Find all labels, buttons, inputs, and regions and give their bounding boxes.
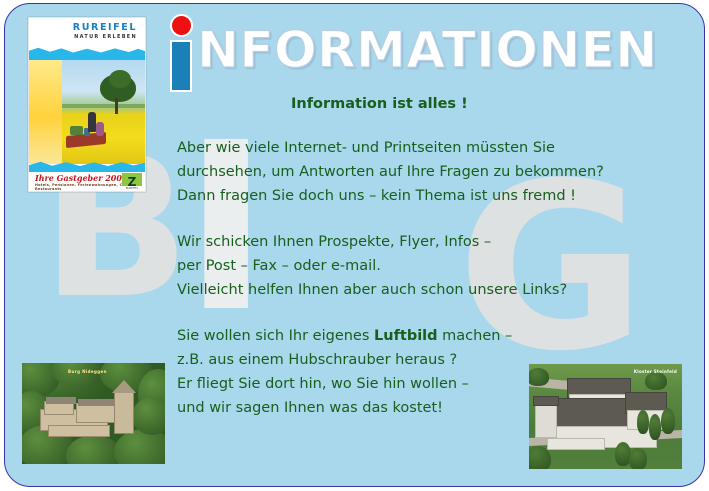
castle-tower xyxy=(114,390,134,434)
p2-line-2: per Post – Fax – oder e-mail. xyxy=(177,258,381,274)
photo-tree-crown-top xyxy=(109,70,131,88)
p2-line-3: Vielleicht helfen Ihnen aber auch schon … xyxy=(177,282,567,298)
brochure-cover-image: RUREIFEL NATUR ERLEBEN Ihre Gastgeber 20… xyxy=(28,17,146,192)
tree xyxy=(529,368,549,386)
i-stem-icon xyxy=(170,40,192,92)
aerial-photo-castle: Burg Nideggen xyxy=(22,363,165,464)
brochure-subtitle: NATUR ERLEBEN xyxy=(29,34,137,40)
photo-person-sitting xyxy=(96,122,104,136)
p1-line-1: Aber wie viele Internet- und Printseiten… xyxy=(177,140,555,156)
abbey-church-roof xyxy=(533,396,559,406)
aerial-photo-abbey: Kloster Steinfeld xyxy=(529,364,682,469)
tree-cluster xyxy=(132,397,165,435)
section-heading: Information ist alles ! xyxy=(291,92,697,116)
tree-cluster xyxy=(52,363,104,387)
photo-person-standing xyxy=(88,112,96,132)
brochure-footer-title: Ihre Gastgeber 2005 xyxy=(35,173,128,183)
p3-line-1b: machen – xyxy=(438,328,513,344)
information-i-icon xyxy=(168,14,193,92)
tree xyxy=(629,448,647,469)
p3-emphasis: Luftbild xyxy=(374,328,438,344)
p3-line-2: z.B. aus einem Hubschrauber heraus ? xyxy=(177,352,457,368)
tree xyxy=(529,446,551,469)
tree xyxy=(649,414,661,440)
p1-line-3: Dann fragen Sie doch uns – kein Thema is… xyxy=(177,188,576,204)
p3-line-3: Er fliegt Sie dort hin, wo Sie hin wolle… xyxy=(177,376,469,392)
brochure-footer: Ihre Gastgeber 2005 Hotels, Pensionen, F… xyxy=(29,172,145,192)
photo-horizon xyxy=(62,104,146,108)
p3-line-1a: Sie wollen sich Ihr eigenes xyxy=(177,328,374,344)
photo-picnic-basket xyxy=(70,126,83,135)
rureifel-logo-icon: Z RUREIFEL TOURISMUS xyxy=(122,173,142,191)
brochure-header: RUREIFEL NATUR ERLEBEN xyxy=(29,18,145,50)
paragraph-2: Wir schicken Ihnen Prospekte, Flyer, Inf… xyxy=(177,230,697,302)
paragraph-1: Aber wie viele Internet- und Printseiten… xyxy=(177,136,697,208)
tree xyxy=(645,372,667,390)
tree xyxy=(661,408,675,434)
p1-line-2: durchsehen, um Antworten auf Ihre Fragen… xyxy=(177,164,604,180)
logo-caption: RUREIFEL TOURISMUS xyxy=(122,186,142,191)
tree xyxy=(637,410,649,434)
p2-line-1: Wir schicken Ihnen Prospekte, Flyer, Inf… xyxy=(177,234,491,250)
p3-line-4: und wir sagen Ihnen was das kostet! xyxy=(177,400,443,416)
page-title: NFORMATIONEN xyxy=(197,25,658,75)
brochure-photo-rapefield xyxy=(62,60,146,164)
i-dot-icon xyxy=(170,14,193,37)
abbey-photo-caption: Kloster Steinfeld xyxy=(634,369,677,374)
slide: B I G RUREIFEL NATUR ERLEBEN xyxy=(0,0,709,491)
castle-wall xyxy=(48,425,110,437)
abbey-arcade xyxy=(547,438,605,450)
brochure-yellow-strip xyxy=(29,60,62,164)
photo-tree-trunk xyxy=(115,98,118,114)
castle-photo-caption: Burg Nideggen xyxy=(68,369,107,374)
abbey-church-tower xyxy=(535,404,557,438)
slide-panel: B I G RUREIFEL NATUR ERLEBEN xyxy=(4,3,705,487)
brochure-title: RUREIFEL xyxy=(29,22,137,33)
castle-roof xyxy=(46,397,76,404)
